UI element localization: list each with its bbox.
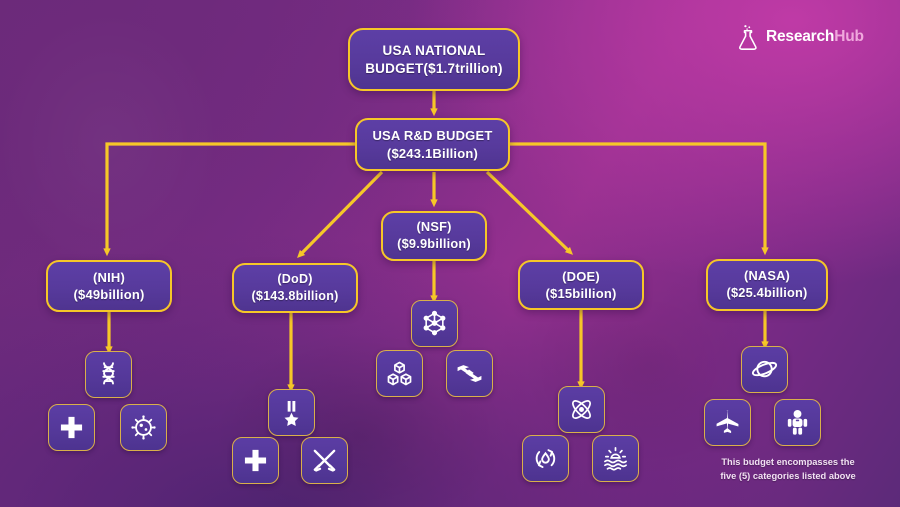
footnote-line-2: five (5) categories listed above xyxy=(698,469,878,483)
medal-icon xyxy=(278,399,305,426)
medical-cross-icon xyxy=(242,447,269,474)
node-usa-rd-budget[interactable]: USA R&D BUDGET ($243.1Billion) xyxy=(355,118,510,171)
footnote-line-1: This budget encompasses the xyxy=(698,455,878,469)
airplane-icon-box[interactable] xyxy=(704,399,751,446)
virus-icon xyxy=(130,414,157,441)
brand-name-part1: Research xyxy=(766,28,834,45)
flask-icon xyxy=(737,24,759,50)
node-line-2: ($243.1Billion) xyxy=(387,145,478,162)
node-line-1: USA NATIONAL xyxy=(383,42,486,60)
molecule-network-icon xyxy=(421,310,448,337)
planet-icon-box[interactable] xyxy=(741,346,788,393)
node-usa-national-budget[interactable]: USA NATIONAL BUDGET($1.7trillion) xyxy=(348,28,520,91)
node-line-2: ($143.8billion) xyxy=(252,288,339,305)
dna-icon-box[interactable] xyxy=(85,351,132,398)
diagram-canvas: USA NATIONAL BUDGET($1.7trillion) USA R&… xyxy=(0,0,900,507)
node-line-2: BUDGET($1.7trillion) xyxy=(365,60,503,78)
sun-water-icon-box[interactable] xyxy=(592,435,639,482)
medical-cross-icon xyxy=(58,414,85,441)
node-line-1: USA R&D BUDGET xyxy=(372,127,492,144)
connector-rd-to-dod xyxy=(300,172,382,255)
planet-icon xyxy=(751,356,778,383)
node-nih[interactable]: (NIH) ($49billion) xyxy=(46,260,172,312)
node-line-2: ($49billion) xyxy=(73,286,144,303)
medical-cross-icon-box[interactable] xyxy=(48,404,95,451)
node-line-2: ($25.4billion) xyxy=(726,285,807,302)
handshake-icon-box[interactable] xyxy=(446,350,493,397)
handshake-icon xyxy=(456,360,483,387)
node-nsf[interactable]: (NSF) ($9.9billion) xyxy=(381,211,487,261)
airplane-icon xyxy=(714,409,741,436)
molecule-network-icon-box[interactable] xyxy=(411,300,458,347)
connector-rd-to-nasa xyxy=(510,144,765,251)
virus-icon-box[interactable] xyxy=(120,404,167,451)
cubes-icon-box[interactable] xyxy=(376,350,423,397)
crossed-swords-icon-box[interactable] xyxy=(301,437,348,484)
node-line-1: (NIH) xyxy=(93,269,125,286)
node-line-2: ($9.9billion) xyxy=(397,236,471,253)
water-recycle-icon xyxy=(532,445,559,472)
astronaut-icon xyxy=(784,409,811,436)
connector-rd-to-doe xyxy=(487,172,570,252)
footnote-text: This budget encompasses the five (5) cat… xyxy=(698,455,878,484)
node-line-1: (DOE) xyxy=(562,268,600,285)
node-nasa[interactable]: (NASA) ($25.4billion) xyxy=(706,259,828,311)
node-line-1: (NSF) xyxy=(416,219,451,236)
node-dod[interactable]: (DoD) ($143.8billion) xyxy=(232,263,358,313)
water-recycle-icon-box[interactable] xyxy=(522,435,569,482)
node-line-1: (NASA) xyxy=(744,268,790,285)
node-doe[interactable]: (DOE) ($15billion) xyxy=(518,260,644,310)
medical-cross-icon-box[interactable] xyxy=(232,437,279,484)
node-line-1: (DoD) xyxy=(277,271,312,288)
medal-icon-box[interactable] xyxy=(268,389,315,436)
dna-icon xyxy=(95,361,122,388)
atom-icon xyxy=(568,396,595,423)
brand-name: ResearchHub xyxy=(766,28,864,46)
astronaut-icon-box[interactable] xyxy=(774,399,821,446)
atom-icon-box[interactable] xyxy=(558,386,605,433)
node-line-2: ($15billion) xyxy=(545,285,616,302)
crossed-swords-icon xyxy=(311,447,338,474)
sun-water-icon xyxy=(602,445,629,472)
brand-name-part2: Hub xyxy=(834,28,864,45)
cubes-icon xyxy=(386,360,413,387)
brand-logo[interactable]: ResearchHub xyxy=(737,24,864,50)
